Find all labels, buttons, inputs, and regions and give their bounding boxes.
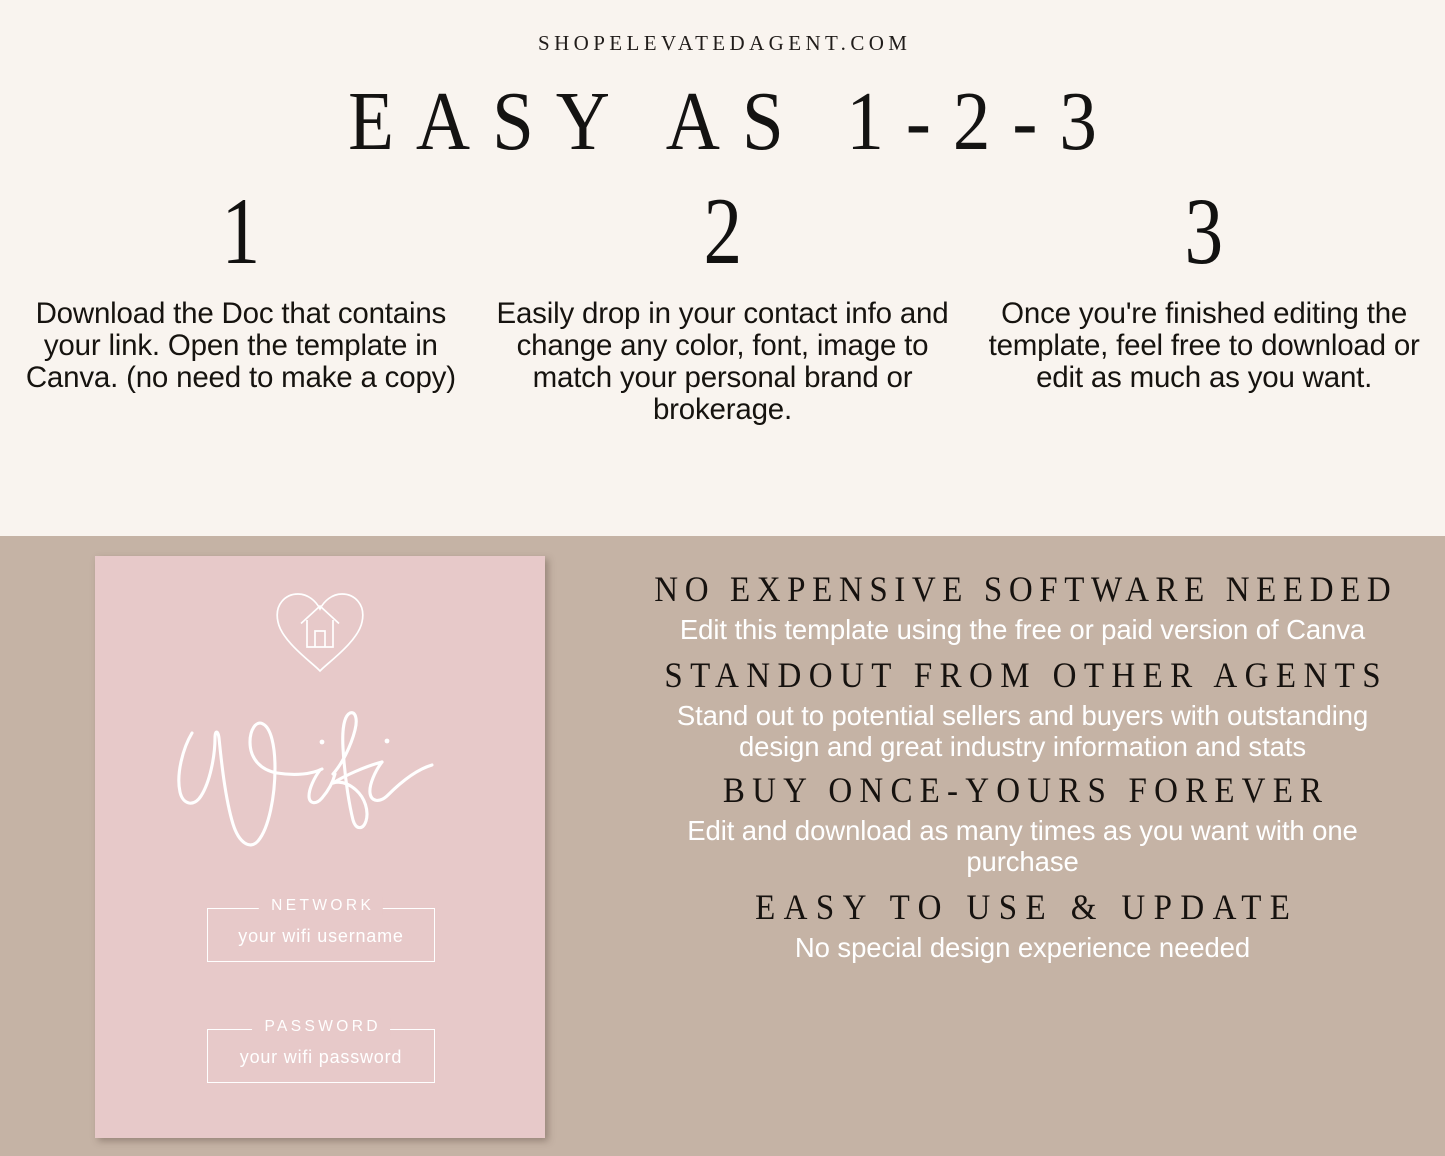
password-field-group[interactable]: PASSWORD your wifi password <box>207 1029 435 1083</box>
network-field-group[interactable]: NETWORK your wifi username <box>207 908 435 962</box>
step-description: Download the Doc that contains your link… <box>0 298 482 394</box>
step-item-1: 1 Download the Doc that contains your li… <box>0 192 482 426</box>
promo-graphic: SHOPELEVATEDAGENT.COM EASY AS 1-2-3 1 Do… <box>0 0 1445 1156</box>
step-description: Once you're finished editing the templat… <box>963 298 1445 394</box>
feature-item-4: EASY TO USE & UPDATE No special design e… <box>600 888 1445 964</box>
step-item-3: 3 Once you're finished editing the templ… <box>963 192 1445 426</box>
feature-description: Edit and download as many times as you w… <box>600 811 1445 878</box>
feature-title: STANDOUT FROM OTHER AGENTS <box>600 654 1445 698</box>
heart-house-icon <box>274 590 366 681</box>
steps-row: 1 Download the Doc that contains your li… <box>0 192 1445 426</box>
password-field-box[interactable]: PASSWORD your wifi password <box>207 1029 435 1083</box>
step-number: 1 <box>19 186 462 277</box>
wifi-script-title <box>170 686 470 866</box>
feature-item-3: BUY ONCE-YOURS FOREVER Edit and download… <box>600 771 1445 878</box>
step-description: Easily drop in your contact info and cha… <box>482 298 964 427</box>
password-field-label: PASSWORD <box>252 1018 390 1036</box>
feature-title: BUY ONCE-YOURS FOREVER <box>600 769 1445 813</box>
network-field-label: NETWORK <box>259 897 383 915</box>
feature-description: No special design experience needed <box>600 928 1445 964</box>
password-field-value[interactable]: your wifi password <box>208 1047 434 1068</box>
feature-description: Edit this template using the free or pai… <box>600 610 1445 646</box>
feature-item-2: STANDOUT FROM OTHER AGENTS Stand out to … <box>600 656 1445 763</box>
network-field-value[interactable]: your wifi username <box>208 926 434 947</box>
step-item-2: 2 Easily drop in your contact info and c… <box>482 192 964 426</box>
bottom-section: NETWORK your wifi username PASSWORD your… <box>0 536 1445 1156</box>
network-field-box[interactable]: NETWORK your wifi username <box>207 908 435 962</box>
features-list: NO EXPENSIVE SOFTWARE NEEDED Edit this t… <box>600 570 1445 973</box>
step-number: 2 <box>501 186 944 277</box>
feature-description: Stand out to potential sellers and buyer… <box>600 696 1445 763</box>
step-number: 3 <box>983 186 1426 277</box>
top-section: SHOPELEVATEDAGENT.COM EASY AS 1-2-3 1 Do… <box>0 0 1445 536</box>
feature-title: NO EXPENSIVE SOFTWARE NEEDED <box>600 568 1445 612</box>
feature-title: EASY TO USE & UPDATE <box>600 886 1445 930</box>
site-url-text: SHOPELEVATEDAGENT.COM <box>0 31 1445 56</box>
feature-item-1: NO EXPENSIVE SOFTWARE NEEDED Edit this t… <box>600 570 1445 646</box>
page-title: EASY AS 1-2-3 <box>0 74 1445 170</box>
wifi-template-card: NETWORK your wifi username PASSWORD your… <box>95 556 545 1138</box>
